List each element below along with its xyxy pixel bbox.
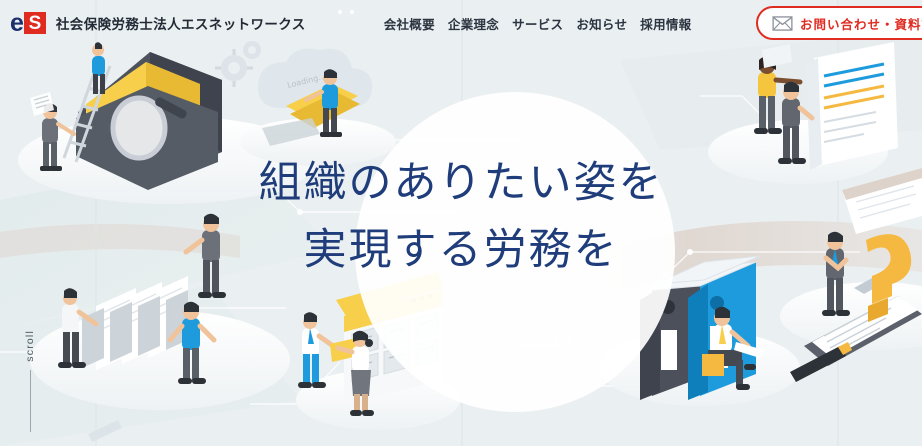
contact-button-label: お問い合わせ・資料請求: [800, 14, 922, 33]
scroll-line: [30, 370, 31, 432]
site-header: e S 社会保険労務士法人エスネットワークス 会社概要 企業理念 サービス お知…: [0, 0, 922, 46]
main-navigation: 会社概要 企業理念 サービス お知らせ 採用情報: [384, 14, 692, 33]
envelope-icon: [772, 16, 793, 31]
nav-item-news[interactable]: お知らせ: [576, 14, 627, 33]
hero-backdrop-circle: [355, 92, 675, 412]
nav-item-philosophy[interactable]: 企業理念: [448, 14, 499, 33]
hero-page: Loading…: [0, 0, 922, 446]
scroll-label: scroll: [24, 330, 36, 362]
brand-logo[interactable]: e S 社会保険労務士法人エスネットワークス: [10, 10, 306, 36]
contact-button[interactable]: お問い合わせ・資料請求: [756, 6, 922, 40]
logo-letter-e: e: [10, 11, 23, 36]
scroll-indicator[interactable]: scroll: [24, 330, 36, 432]
logo-mark: e S: [10, 10, 46, 36]
nav-item-company-profile[interactable]: 会社概要: [384, 14, 435, 33]
company-name: 社会保険労務士法人エスネットワークス: [56, 13, 306, 33]
nav-item-service[interactable]: サービス: [512, 14, 563, 33]
nav-item-recruit[interactable]: 採用情報: [640, 14, 691, 33]
logo-letter-s: S: [24, 12, 46, 34]
